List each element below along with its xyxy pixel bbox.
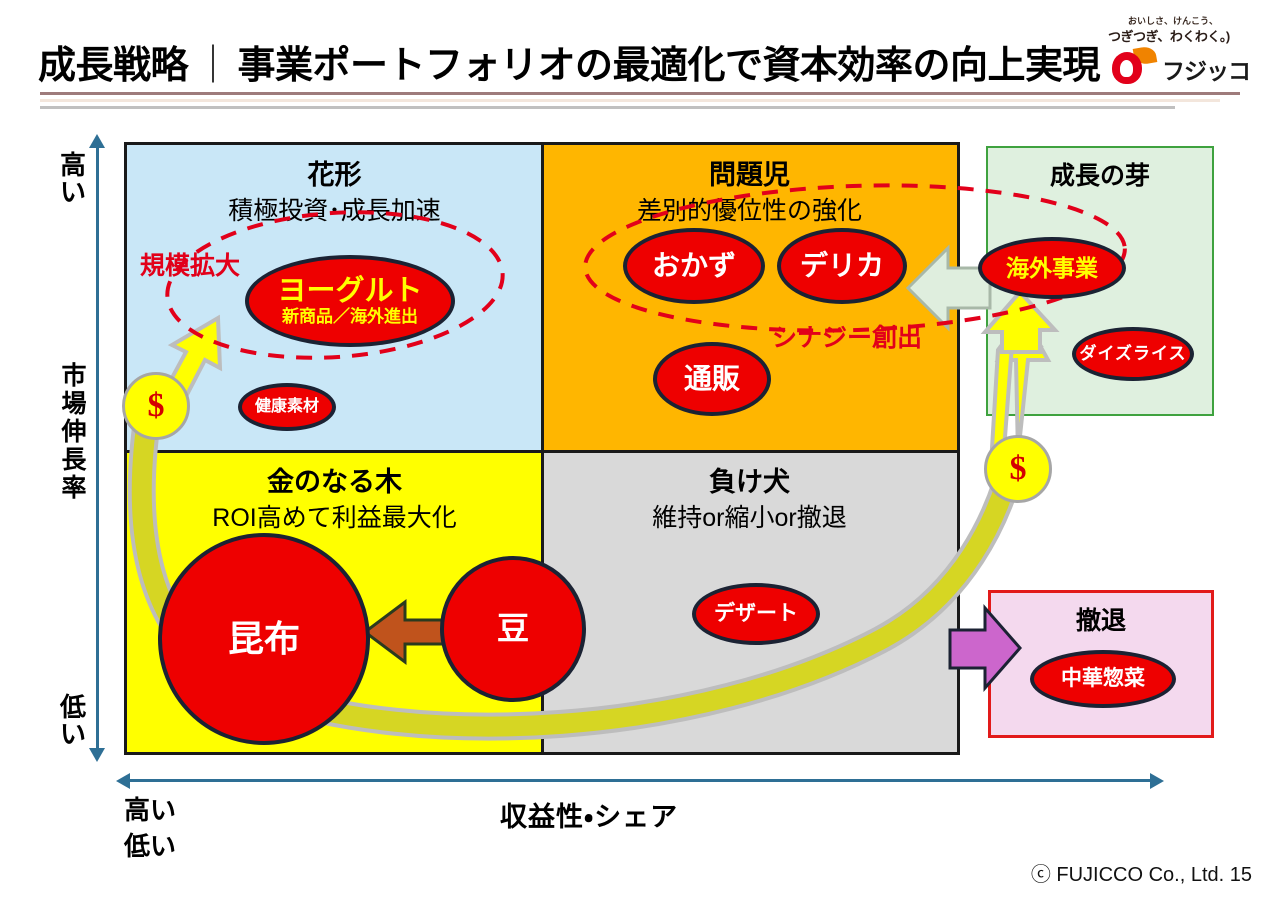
bubble-mail-order-label: 通販 — [684, 364, 740, 393]
bubble-konbu-label: 昆布 — [228, 620, 300, 658]
logo-brand-name: フジッコ — [1162, 52, 1250, 86]
page-title-left: 成長戦略 — [38, 45, 188, 87]
x-axis-arrow-left-icon — [116, 773, 130, 789]
quadrant-cashcow-title: 金のなる木 — [127, 460, 542, 499]
y-axis-high-label: 高い — [56, 152, 90, 207]
bubble-yogurt[interactable]: ヨーグルト 新商品／海外進出 — [245, 255, 455, 347]
bubble-yogurt-label: ヨーグルト — [277, 276, 422, 306]
y-axis-arrow-down-icon — [89, 748, 105, 762]
bubble-delica-label: デリカ — [800, 251, 884, 280]
logo-mark-icon — [1110, 46, 1156, 86]
droplet-icon — [1112, 52, 1142, 84]
quadrant-dog-subtitle: 維持or縮小or撤退 — [542, 498, 957, 534]
bubble-daizu-rice-label: ダイズライス — [1080, 345, 1187, 363]
coin-left-symbol: $ — [148, 387, 165, 425]
y-axis-label: 市場伸長率 — [58, 362, 90, 502]
bubble-dessert[interactable]: デザート — [692, 583, 820, 645]
x-axis-high-label: 高い — [124, 790, 176, 827]
quadrant-question-subtitle: 差別的優位性の強化 — [542, 191, 957, 227]
panel-exit-title: 撤退 — [991, 601, 1211, 637]
bubble-okazu[interactable]: おかず — [623, 228, 765, 304]
bubble-health-material[interactable]: 健康素材 — [238, 383, 336, 431]
coin-right-icon: $ — [984, 435, 1052, 503]
x-axis-label: 収益性・シェア — [500, 795, 678, 834]
header-rule-secondary — [40, 99, 1220, 102]
bubble-overseas-business-label: 海外事業 — [1006, 256, 1098, 280]
logo-tagline-main: つぎつぎ、わくわく。) — [1108, 26, 1230, 45]
bubble-chinese-deli-label: 中華惣菜 — [1061, 668, 1145, 690]
company-logo: おいしさ、けんこう、 つぎつぎ、わくわく。) フジッコ — [1100, 14, 1265, 88]
quadrant-cashcow-subtitle: ROI高めて利益最大化 — [127, 498, 542, 534]
x-axis-line — [130, 779, 1150, 782]
coin-left-icon: $ — [122, 372, 190, 440]
bubble-mail-order[interactable]: 通販 — [653, 342, 771, 416]
x-axis-low-label: 低い — [124, 826, 176, 863]
page-title-right: 事業ポートフォリオの最適化で資本効率の向上実現 — [238, 45, 1101, 87]
bubble-health-material-label: 健康素材 — [255, 399, 319, 416]
y-axis-line — [96, 144, 99, 754]
matrix-horizontal-divider — [127, 450, 957, 453]
bubble-okazu-label: おかず — [652, 251, 736, 280]
bubble-dessert-label: デザート — [714, 603, 798, 625]
header-rule-tertiary — [40, 106, 1175, 109]
bubble-chinese-deli[interactable]: 中華惣菜 — [1030, 650, 1176, 708]
header-rule-primary — [40, 92, 1240, 95]
bubble-mame-label: 豆 — [497, 612, 529, 646]
bubble-yogurt-sublabel: 新商品／海外進出 — [282, 308, 418, 326]
bubble-delica[interactable]: デリカ — [777, 228, 907, 304]
quadrant-star-title: 花形 — [127, 153, 542, 192]
x-axis-arrow-right-icon — [1150, 773, 1164, 789]
bubble-daizu-rice[interactable]: ダイズライス — [1072, 327, 1194, 381]
footer-copyright: ⓒ FUJICCO Co., Ltd. 15 — [1031, 858, 1252, 887]
slide-root: 成長戦略｜事業ポートフォリオの最適化で資本効率の向上実現 おいしさ、けんこう、 … — [0, 0, 1280, 906]
panel-growth-seed-title: 成長の芽 — [988, 156, 1212, 192]
bubble-overseas-business[interactable]: 海外事業 — [978, 237, 1126, 299]
page-title: 成長戦略｜事業ポートフォリオの最適化で資本効率の向上実現 — [38, 34, 1100, 89]
bubble-mame[interactable]: 豆 — [440, 556, 586, 702]
quadrant-question-title: 問題児 — [542, 153, 957, 192]
y-axis-low-label: 低い — [56, 694, 90, 749]
annotation-scale-expansion: 規模拡大 — [140, 246, 240, 282]
title-separator: ｜ — [188, 34, 238, 89]
quadrant-dog-title: 負け犬 — [542, 460, 957, 499]
annotation-synergy-creation: シナジー創出 — [772, 318, 922, 354]
quadrant-star-subtitle: 積極投資･成長加速 — [127, 191, 542, 227]
coin-right-symbol: $ — [1010, 450, 1027, 488]
bubble-konbu[interactable]: 昆布 — [158, 533, 370, 745]
